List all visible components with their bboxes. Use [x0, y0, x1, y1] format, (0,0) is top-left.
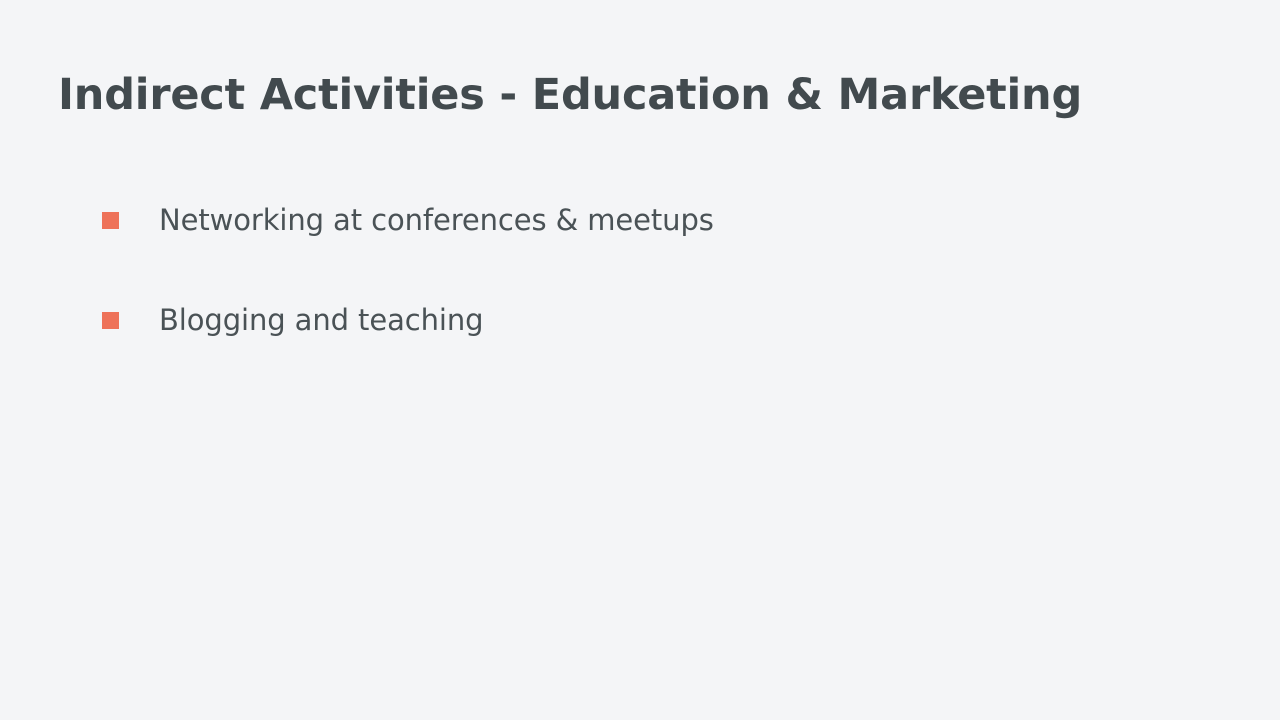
square-bullet-icon	[102, 312, 119, 329]
square-bullet-icon	[102, 212, 119, 229]
slide-title: Indirect Activities - Education & Market…	[58, 71, 1082, 119]
list-item: Blogging and teaching	[102, 296, 1202, 396]
bullet-list: Networking at conferences & meetups Blog…	[102, 196, 1202, 396]
list-item: Networking at conferences & meetups	[102, 196, 1202, 296]
bullet-item-label: Blogging and teaching	[159, 296, 1202, 344]
presentation-slide: Indirect Activities - Education & Market…	[0, 0, 1280, 720]
bullet-item-label: Networking at conferences & meetups	[159, 196, 1202, 244]
